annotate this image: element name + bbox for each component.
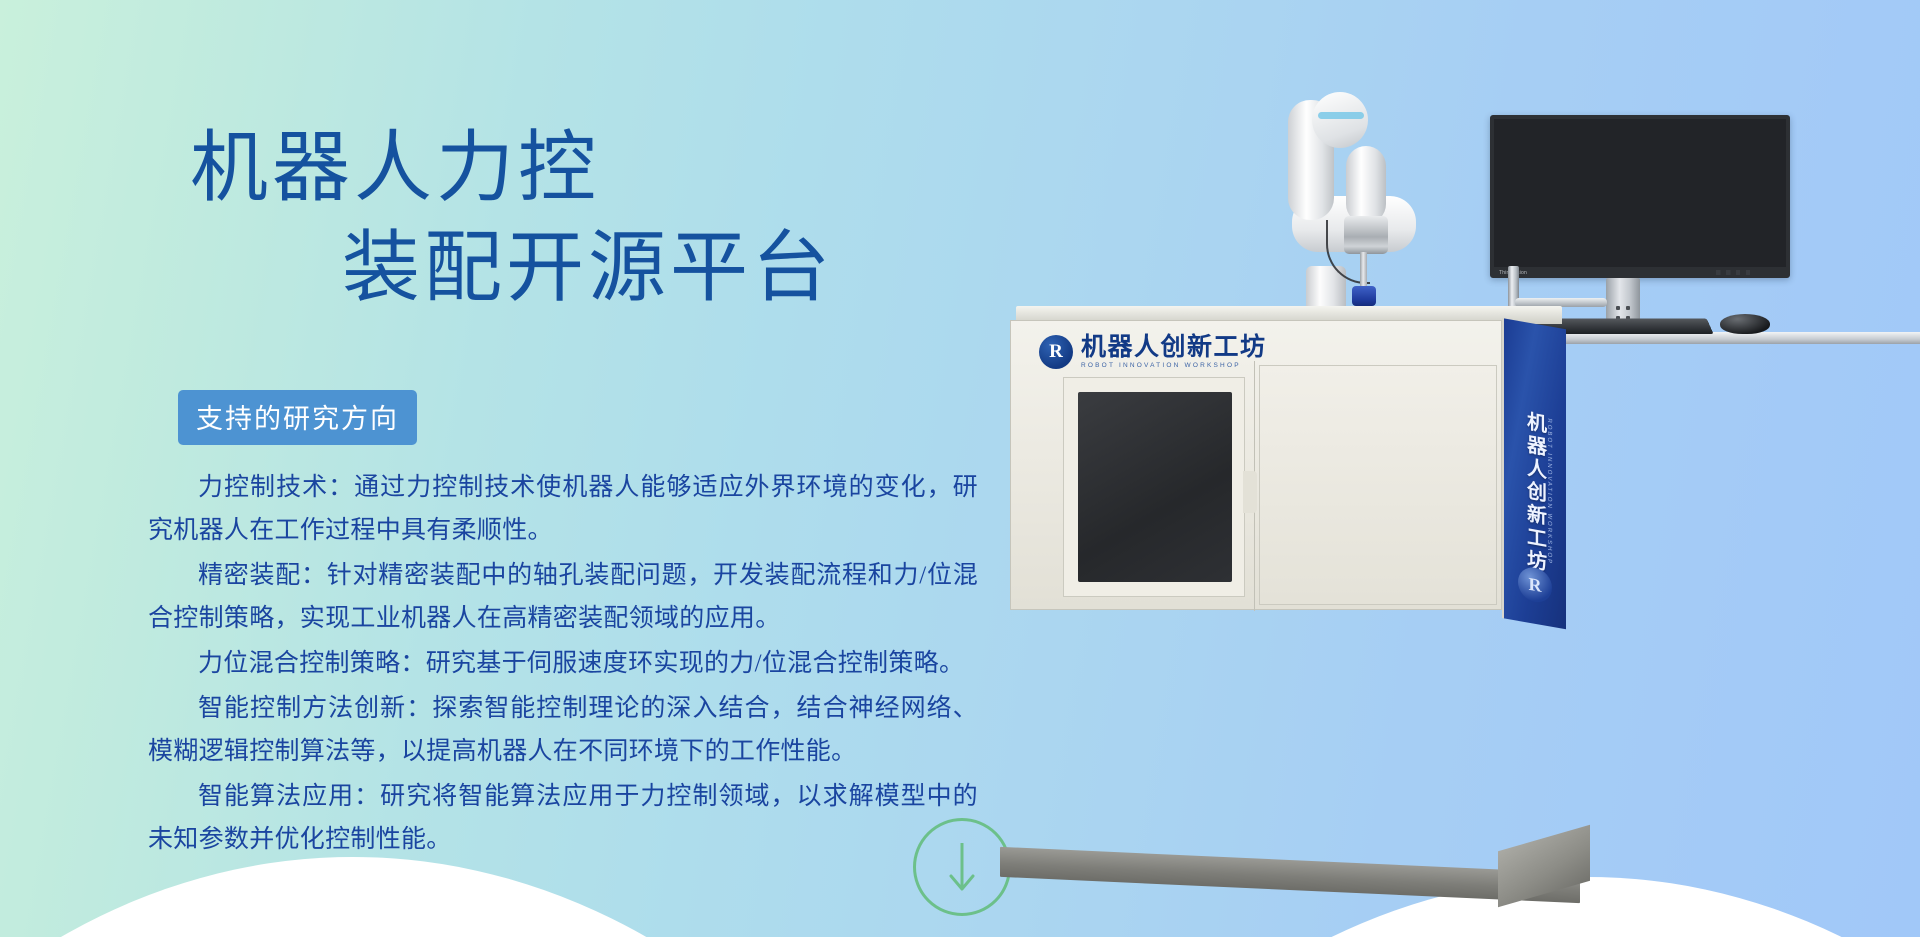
research-direction-item: 智能算法应用：研究将智能算法应用于力控制领域，以求解模型中的未知参数并优化控制性…	[148, 775, 978, 861]
cabinet-logo: R 机器人创新工坊 ROBOT INNOVATION WORKSHOP	[1039, 335, 1267, 370]
section-badge: 支持的研究方向	[178, 390, 417, 445]
arrow-down-icon	[945, 839, 979, 895]
cabinet-front-face: R 机器人创新工坊 ROBOT INNOVATION WORKSHOP	[1010, 320, 1502, 610]
robot-arm-elbow	[1312, 92, 1368, 148]
robot-arm-accent-band	[1318, 112, 1364, 119]
robot-arm-end-effector	[1352, 286, 1376, 306]
cabinet-side-panel: 机器人创新工坊 ROBOT INNOVATION WORKSHOP R	[1502, 318, 1566, 629]
research-directions-list: 力控制技术：通过力控制技术使机器人能够适应外界环境的变化，研究机器人在工作过程中…	[148, 466, 978, 863]
product-photo: ThinkVision	[1010, 70, 1920, 870]
research-direction-item: 力控制技术：通过力控制技术使机器人能够适应外界环境的变化，研究机器人在工作过程中…	[148, 466, 978, 552]
cabinet-logo-mark-icon: R	[1039, 335, 1073, 369]
mouse	[1720, 314, 1770, 334]
monitor-buttons	[1716, 270, 1778, 275]
cabinet-door-left	[1063, 377, 1245, 597]
cabinet-viewing-window	[1078, 392, 1232, 582]
cabinet-logo-text: 机器人创新工坊 ROBOT INNOVATION WORKSHOP	[1081, 335, 1267, 370]
cabinet-side-name-en: ROBOT INNOVATION WORKSHOP	[1546, 418, 1552, 566]
cabinet-base-plinth	[1000, 847, 1580, 903]
monitor-display: ThinkVision	[1490, 115, 1790, 278]
hero-text-column: 机器人力控 装配开源平台 支持的研究方向 力控制技术：通过力控制技术使机器人能够…	[0, 0, 1000, 937]
cabinet-door-right	[1259, 365, 1497, 605]
page-title: 机器人力控 装配开源平台	[190, 118, 834, 318]
research-direction-item: 精密装配：针对精密装配中的轴孔装配问题，开发装配流程和力/位混合控制策略，实现工…	[148, 554, 978, 640]
cabinet-logo-name-cn: 机器人创新工坊	[1081, 335, 1267, 360]
machine-cabinet: R 机器人创新工坊 ROBOT INNOVATION WORKSHOP 机器人创…	[1010, 320, 1570, 630]
robot-arm-tool-shaft	[1360, 252, 1367, 290]
cabinet-door-handle	[1243, 471, 1257, 513]
research-direction-item: 力位混合控制策略：研究基于伺服速度环实现的力/位混合控制策略。	[148, 642, 978, 685]
hero-banner: 机器人力控 装配开源平台 支持的研究方向 力控制技术：通过力控制技术使机器人能够…	[0, 0, 1920, 937]
research-direction-item: 智能控制方法创新：探索智能控制理论的深入结合，结合神经网络、模糊逻辑控制算法等，…	[148, 687, 978, 773]
robot-arm	[1240, 70, 1500, 340]
cabinet-logo-name-en: ROBOT INNOVATION WORKSHOP	[1081, 363, 1267, 370]
page-title-line-2: 装配开源平台	[190, 218, 834, 318]
page-title-line-1: 机器人力控	[190, 124, 600, 211]
scroll-down-button[interactable]	[913, 818, 1011, 916]
robot-arm-forearm	[1346, 146, 1386, 224]
